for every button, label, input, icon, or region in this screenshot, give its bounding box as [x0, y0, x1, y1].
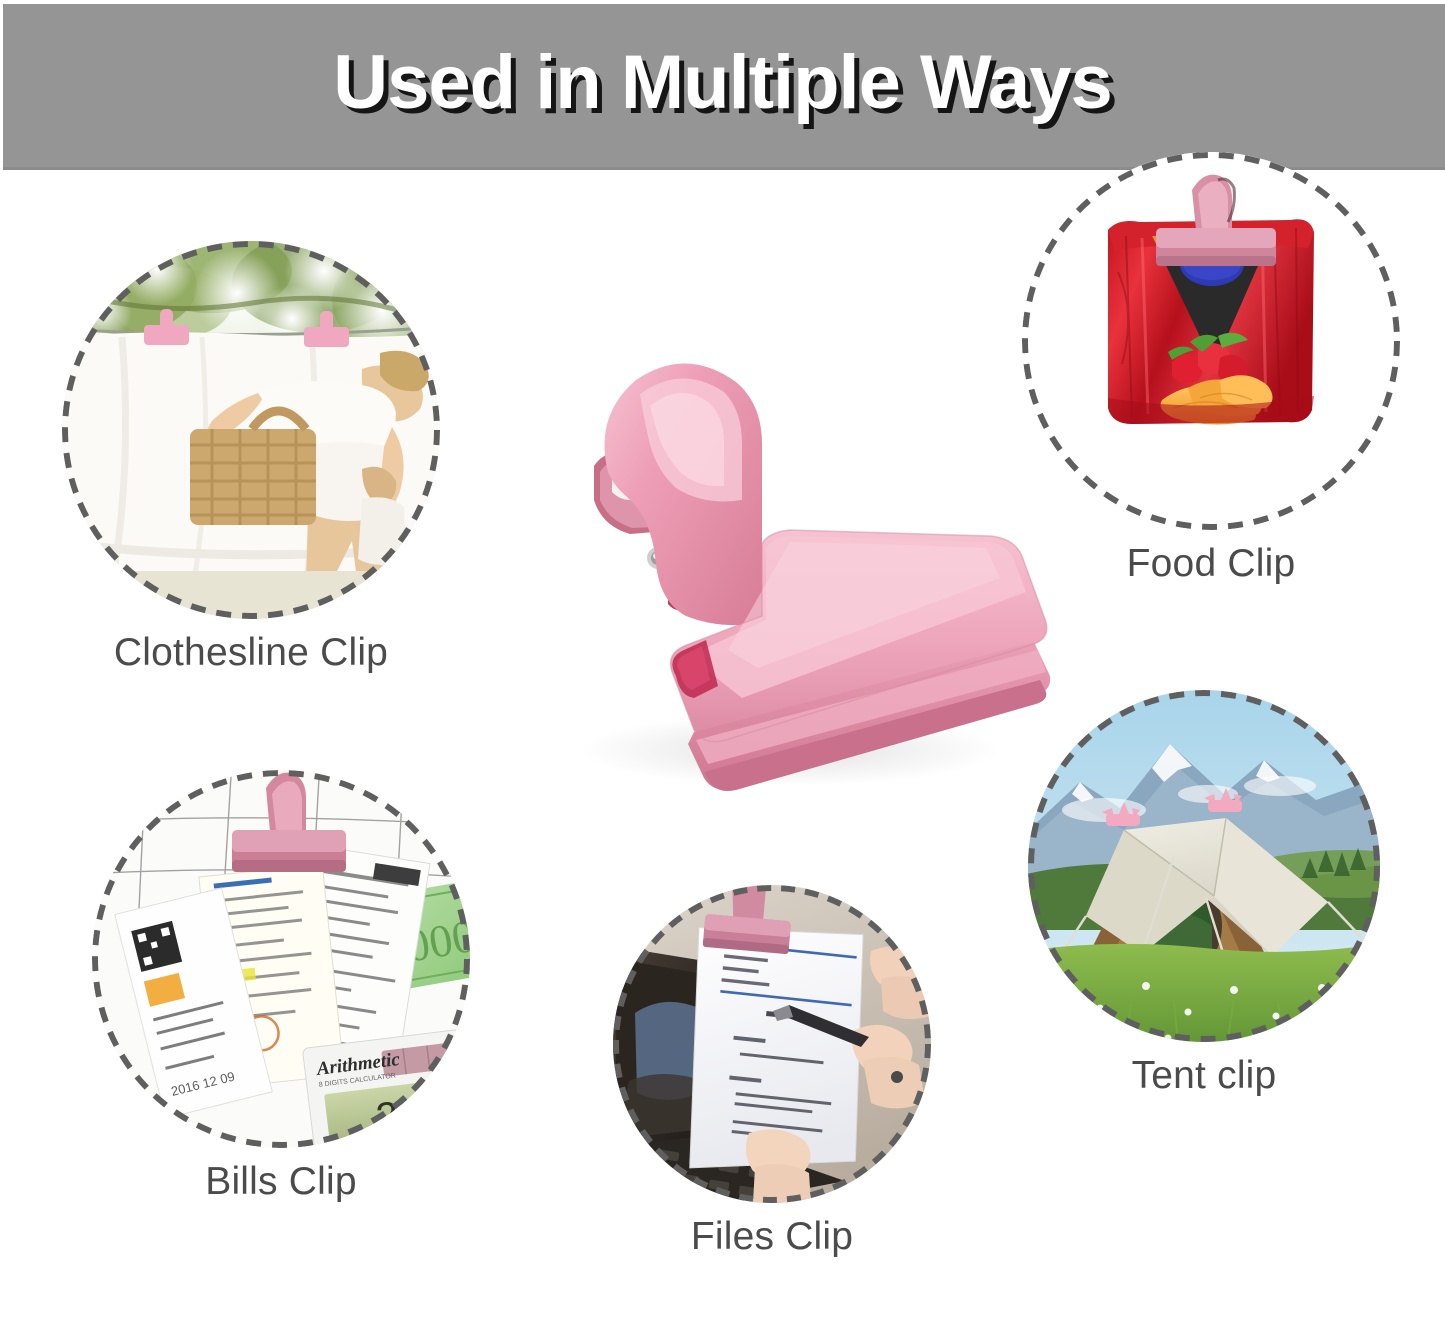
feature-clothesline: Clothesline Clip [62, 241, 440, 675]
bills-photo: 1000 [92, 770, 470, 1148]
feature-bills: 1000 [92, 770, 470, 1204]
tent-photo [1028, 690, 1380, 1042]
clothesline-photo [62, 241, 440, 619]
page-title: Used in Multiple Ways [0, 0, 1445, 166]
feature-label-tent: Tent clip [1028, 1054, 1380, 1098]
files-photo [613, 885, 931, 1203]
feature-label-bills: Bills Clip [92, 1160, 470, 1204]
hero-product-chip-clip [490, 320, 1090, 820]
feature-files: Files Clip [613, 885, 931, 1259]
feature-tent: Tent clip [1028, 690, 1380, 1098]
feature-label-files: Files Clip [613, 1215, 931, 1259]
feature-label-clothesline: Clothesline Clip [62, 631, 440, 675]
